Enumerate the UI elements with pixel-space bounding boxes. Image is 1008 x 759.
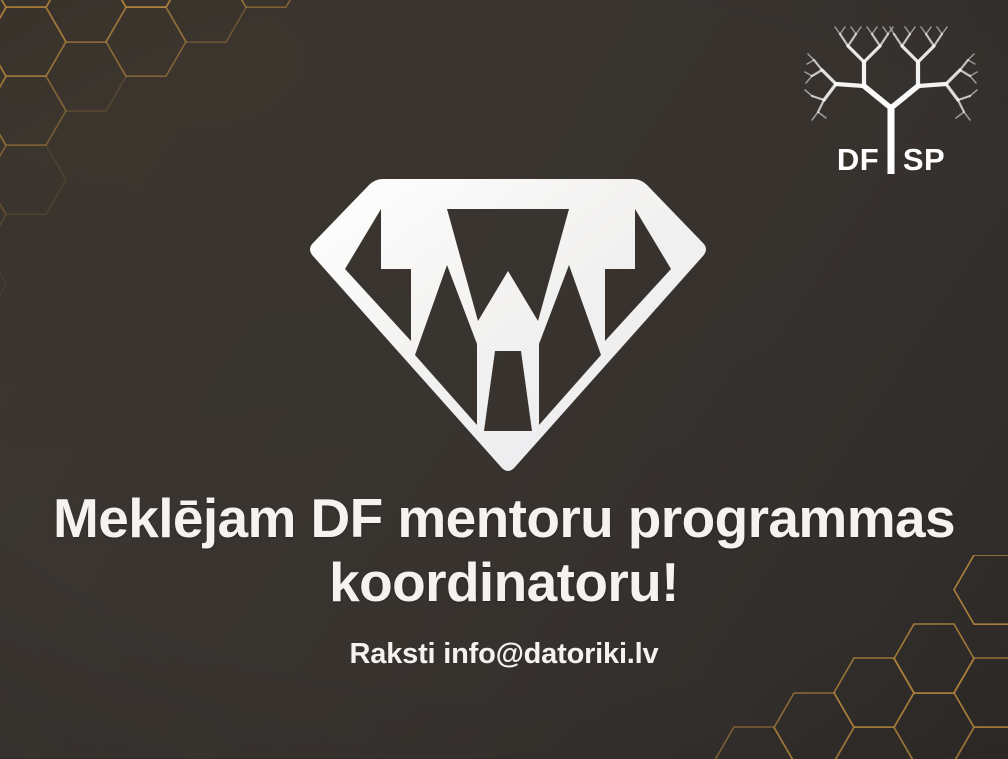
page-headline: Meklējam DF mentoru programmas koordinat… bbox=[0, 487, 1008, 615]
df-sp-fractal-tree-icon: DF SP bbox=[802, 22, 980, 174]
logo-wordmark-df: DF bbox=[837, 142, 879, 174]
diamond-m-superhero-emblem bbox=[307, 173, 709, 477]
poster-canvas: DF SP Meklējam DF mentoru programmas koo… bbox=[0, 0, 1008, 759]
df-sp-logo: DF SP bbox=[802, 22, 980, 174]
logo-wordmark-sp: SP bbox=[903, 142, 945, 174]
contact-subline: Raksti info@datoriki.lv bbox=[0, 638, 1008, 671]
